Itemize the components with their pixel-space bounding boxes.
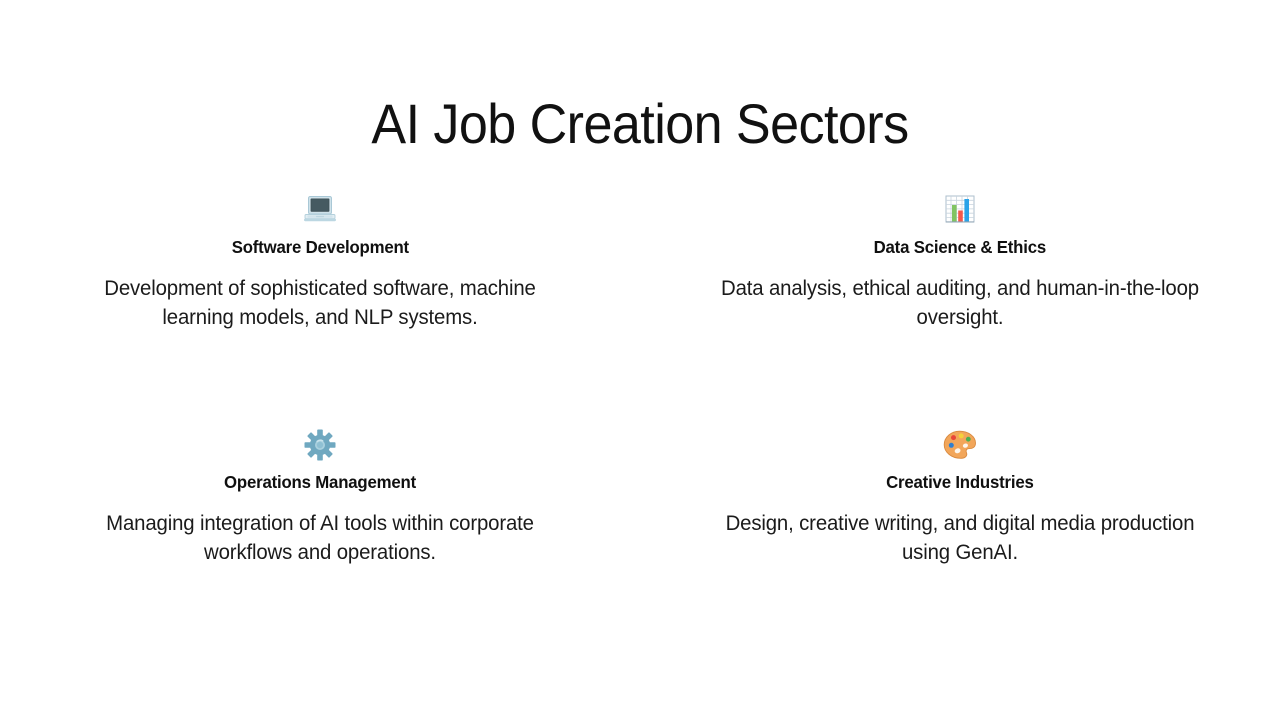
sector-description: Design, creative writing, and digital me… (718, 509, 1203, 567)
artist-palette-icon (942, 427, 978, 463)
page-title: AI Job Creation Sectors (45, 90, 1235, 158)
sector-description: Managing integration of AI tools within … (78, 509, 563, 567)
sector-card-data-science-ethics: Data Science & Ethics Data analysis, eth… (640, 192, 1280, 427)
sector-description: Data analysis, ethical auditing, and hum… (718, 274, 1203, 332)
sector-title: Software Development (231, 236, 408, 258)
slide: AI Job Creation Sectors Software Develop… (0, 0, 1280, 720)
sector-card-software-development: Software Development Development of soph… (0, 192, 640, 427)
gear-icon (302, 427, 338, 463)
sector-title: Operations Management (224, 471, 416, 493)
bar-chart-icon (942, 192, 978, 228)
sector-card-operations-management: Operations Management Managing integrati… (0, 427, 640, 662)
sector-card-creative-industries: Creative Industries Design, creative wri… (640, 427, 1280, 662)
sector-grid: Software Development Development of soph… (0, 192, 1280, 662)
sector-title: Creative Industries (886, 471, 1034, 493)
sector-title: Data Science & Ethics (874, 236, 1046, 258)
laptop-icon (302, 192, 338, 228)
sector-description: Development of sophisticated software, m… (78, 274, 563, 332)
